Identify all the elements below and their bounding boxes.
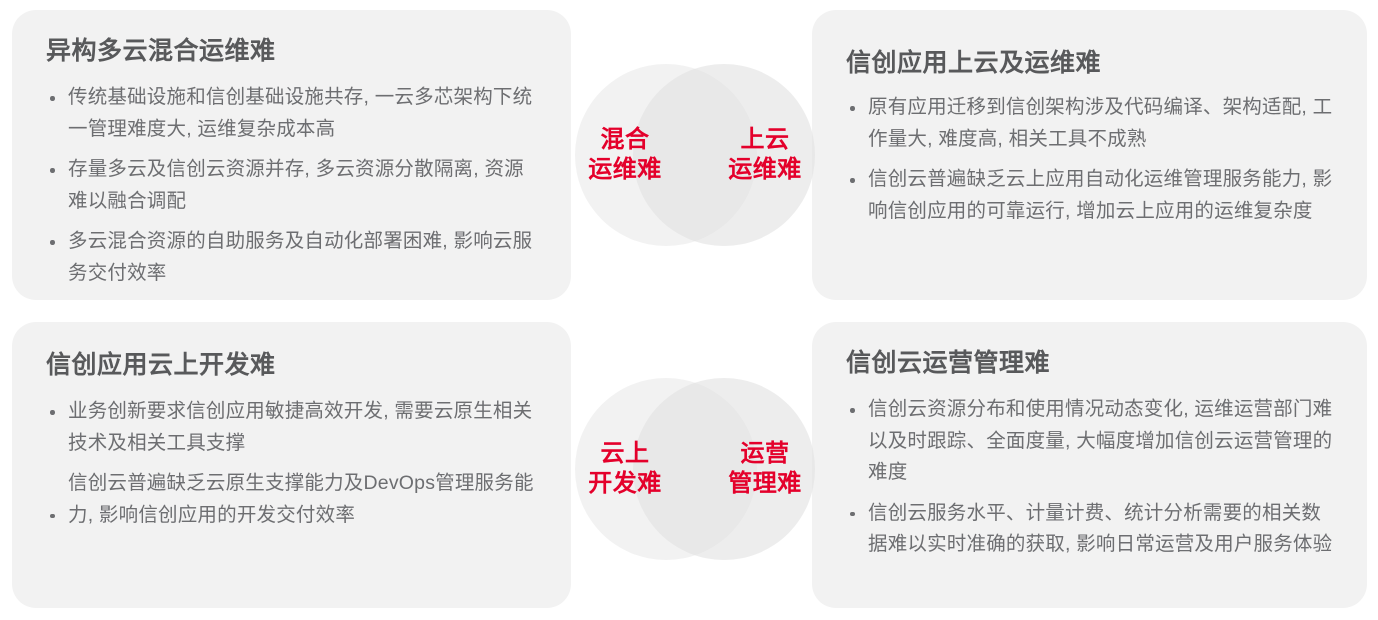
bullet-list: 业务创新要求信创应用敏捷高效开发, 需要云原生相关技术及相关工具支撑 信创云普遍… (46, 396, 541, 531)
panel-title: 信创应用上云及运维难 (846, 48, 1339, 78)
venn-label-cloud-migration-ops: 上云 运维难 (713, 125, 817, 185)
list-item: 信创云资源分布和使用情况动态变化, 运维运营部门难以及时跟踪、全面度量, 大幅度… (846, 394, 1339, 489)
list-item: 存量多云及信创云资源并存, 多云资源分散隔离, 资源难以融合调配 (46, 154, 541, 217)
list-item: 信创云普遍缺乏云上应用自动化运维管理服务能力, 影响信创应用的可靠运行, 增加云… (846, 164, 1339, 227)
list-item-text: 多云混合资源的自助服务及自动化部署困难, 影响云服务交付效率 (68, 230, 532, 284)
bullet-list: 信创云资源分布和使用情况动态变化, 运维运营部门难以及时跟踪、全面度量, 大幅度… (846, 394, 1339, 561)
list-item: 信创云普遍缺乏云原生支撑能力及DevOps管理服务能力, 影响信创应用的开发交付… (46, 468, 541, 531)
bullet-dot-icon (50, 168, 55, 173)
venn-label-cloud-development: 云上 开发难 (573, 439, 677, 499)
list-item-text: 业务创新要求信创应用敏捷高效开发, 需要云原生相关技术及相关工具支撑 (68, 400, 532, 454)
bullet-dot-icon (50, 240, 55, 245)
venn-label-operations-management: 运营 管理难 (713, 439, 817, 499)
venn-diagram-bottom: 云上 开发难 运营 管理难 (575, 378, 815, 560)
venn-diagram-top: 混合 运维难 上云 运维难 (575, 64, 815, 246)
list-item: 业务创新要求信创应用敏捷高效开发, 需要云原生相关技术及相关工具支撑 (46, 396, 541, 459)
panel-cloud-operations-management: 信创云运营管理难 信创云资源分布和使用情况动态变化, 运维运营部门难以及时跟踪、… (812, 322, 1367, 608)
bullet-list: 传统基础设施和信创基础设施共存, 一云多芯架构下统一管理难度大, 运维复杂成本高… (46, 82, 541, 289)
bullet-dot-icon (50, 410, 55, 415)
list-item: 多云混合资源的自助服务及自动化部署困难, 影响云服务交付效率 (46, 226, 541, 289)
panel-title: 异构多云混合运维难 (46, 36, 541, 66)
bullet-dot-icon (50, 514, 55, 519)
list-item-text: 原有应用迁移到信创架构涉及代码编译、架构适配, 工作量大, 难度高, 相关工具不… (868, 96, 1332, 150)
panel-hybrid-multicloud-ops: 异构多云混合运维难 传统基础设施和信创基础设施共存, 一云多芯架构下统一管理难度… (12, 10, 571, 300)
bullet-list: 原有应用迁移到信创架构涉及代码编译、架构适配, 工作量大, 难度高, 相关工具不… (846, 92, 1339, 227)
list-item-text: 传统基础设施和信创基础设施共存, 一云多芯架构下统一管理难度大, 运维复杂成本高 (68, 86, 532, 140)
panel-cloud-native-development: 信创应用云上开发难 业务创新要求信创应用敏捷高效开发, 需要云原生相关技术及相关… (12, 322, 571, 608)
list-item: 传统基础设施和信创基础设施共存, 一云多芯架构下统一管理难度大, 运维复杂成本高 (46, 82, 541, 145)
bullet-dot-icon (850, 408, 855, 413)
venn-label-hybrid-ops: 混合 运维难 (573, 125, 677, 185)
list-item: 信创云服务水平、计量计费、统计分析需要的相关数据难以实时准确的获取, 影响日常运… (846, 498, 1339, 561)
panel-app-cloud-migration-ops: 信创应用上云及运维难 原有应用迁移到信创架构涉及代码编译、架构适配, 工作量大,… (812, 10, 1367, 300)
bullet-dot-icon (850, 178, 855, 183)
panel-title: 信创云运营管理难 (846, 348, 1339, 378)
list-item-text: 信创云服务水平、计量计费、统计分析需要的相关数据难以实时准确的获取, 影响日常运… (868, 502, 1332, 556)
list-item-text: 信创云普遍缺乏云原生支撑能力及DevOps管理服务能力, 影响信创应用的开发交付… (68, 472, 534, 526)
list-item-text: 信创云普遍缺乏云上应用自动化运维管理服务能力, 影响信创应用的可靠运行, 增加云… (868, 168, 1332, 222)
bullet-dot-icon (850, 512, 855, 517)
bullet-dot-icon (50, 96, 55, 101)
panel-title: 信创应用云上开发难 (46, 350, 541, 380)
list-item-text: 信创云资源分布和使用情况动态变化, 运维运营部门难以及时跟踪、全面度量, 大幅度… (868, 398, 1332, 483)
list-item: 原有应用迁移到信创架构涉及代码编译、架构适配, 工作量大, 难度高, 相关工具不… (846, 92, 1339, 155)
list-item-text: 存量多云及信创云资源并存, 多云资源分散隔离, 资源难以融合调配 (68, 158, 524, 212)
infographic-canvas: 异构多云混合运维难 传统基础设施和信创基础设施共存, 一云多芯架构下统一管理难度… (0, 0, 1378, 620)
bullet-dot-icon (850, 106, 855, 111)
